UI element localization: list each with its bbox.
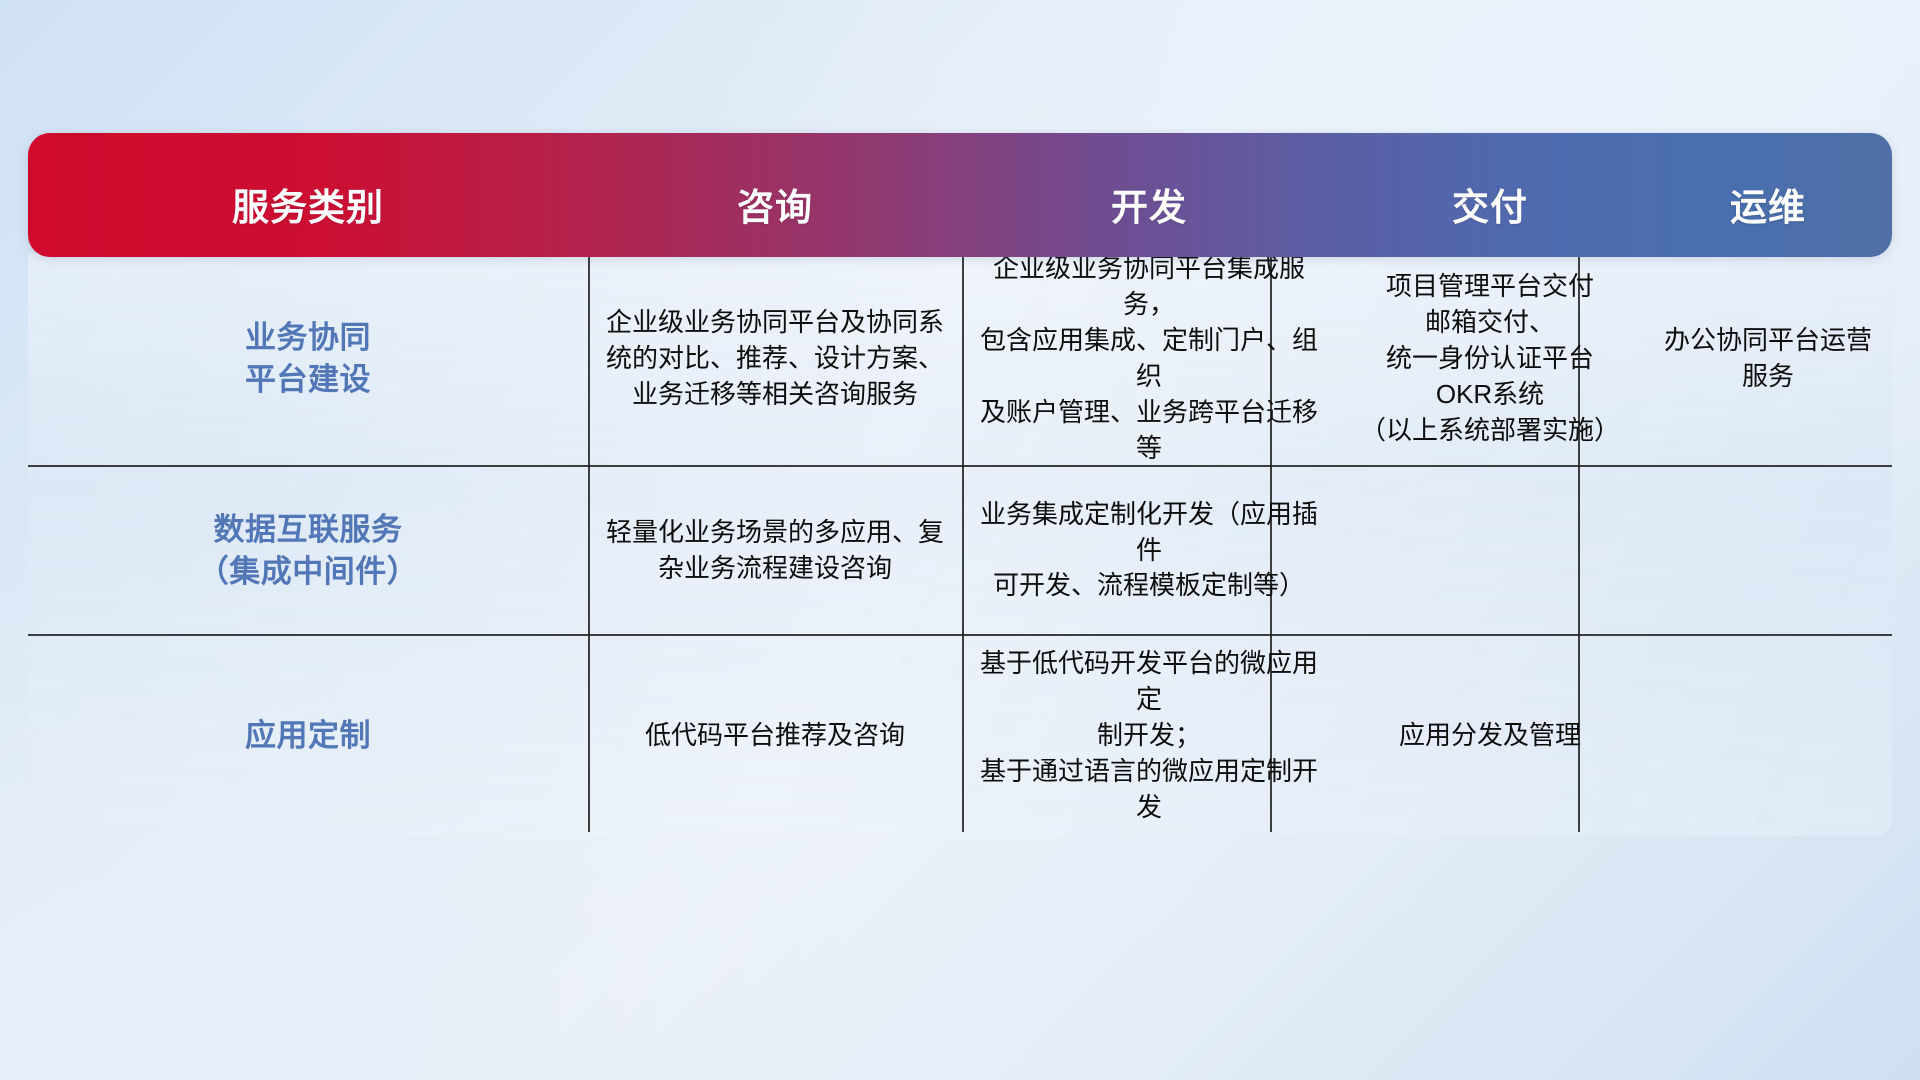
table-body: 业务协同 平台建设 企业级业务协同平台及协同系 统的对比、推荐、设计方案、 业务… bbox=[28, 253, 1892, 836]
cell-development-row1: 企业级业务协同平台集成服务， 包含应用集成、定制门户、组织 及账户管理、业务跨平… bbox=[962, 253, 1336, 465]
header-cell-operations: 运维 bbox=[1644, 133, 1892, 257]
header-label-development: 开发 bbox=[1111, 177, 1187, 231]
cell-delivery-row1: 项目管理平台交付 邮箱交付、 统一身份认证平台 OKR系统 （以上系统部署实施） bbox=[1336, 253, 1644, 465]
header-cell-delivery: 交付 bbox=[1336, 133, 1644, 257]
cell-operations-row1: 办公协同平台运营服务 bbox=[1644, 253, 1892, 465]
header-label-service-category: 服务类别 bbox=[232, 177, 384, 231]
header-cell-development: 开发 bbox=[962, 133, 1336, 257]
row-label-application-customization: 应用定制 bbox=[28, 636, 588, 836]
cell-consulting-row3: 低代码平台推荐及咨询 bbox=[588, 636, 962, 836]
row-label-data-interconnection-service: 数据互联服务 （集成中间件） bbox=[28, 467, 588, 634]
header-label-operations: 运维 bbox=[1730, 177, 1806, 231]
cell-consulting-row2: 轻量化业务场景的多应用、复 杂业务流程建设咨询 bbox=[588, 467, 962, 634]
row-label-business-collaboration-platform: 业务协同 平台建设 bbox=[28, 253, 588, 465]
cell-operations-row3 bbox=[1644, 636, 1892, 836]
cell-consulting-row1: 企业级业务协同平台及协同系 统的对比、推荐、设计方案、 业务迁移等相关咨询服务 bbox=[588, 253, 962, 465]
cell-development-row2: 业务集成定制化开发（应用插件 可开发、流程模板定制等） bbox=[962, 467, 1336, 634]
cell-delivery-row2 bbox=[1336, 467, 1644, 634]
header-label-consulting: 咨询 bbox=[737, 177, 813, 231]
service-matrix-table: 服务类别 咨询 开发 交付 运维 业务协同 平台建设 企业级业务协同平台及协同系… bbox=[28, 133, 1892, 836]
cell-delivery-row3: 应用分发及管理 bbox=[1336, 636, 1644, 836]
table-row: 应用定制 低代码平台推荐及咨询 基于低代码开发平台的微应用定 制开发； 基于通过… bbox=[28, 636, 1892, 836]
header-cell-service-category: 服务类别 bbox=[28, 133, 588, 257]
table-header-row: 服务类别 咨询 开发 交付 运维 bbox=[28, 133, 1892, 257]
table-row: 业务协同 平台建设 企业级业务协同平台及协同系 统的对比、推荐、设计方案、 业务… bbox=[28, 253, 1892, 465]
cell-development-row3: 基于低代码开发平台的微应用定 制开发； 基于通过语言的微应用定制开发 bbox=[962, 636, 1336, 836]
header-label-delivery: 交付 bbox=[1452, 177, 1528, 231]
header-cell-consulting: 咨询 bbox=[588, 133, 962, 257]
cell-operations-row2 bbox=[1644, 467, 1892, 634]
slide-canvas: 服务类别 咨询 开发 交付 运维 业务协同 平台建设 企业级业务协同平台及协同系… bbox=[0, 0, 1920, 1080]
table-row: 数据互联服务 （集成中间件） 轻量化业务场景的多应用、复 杂业务流程建设咨询 业… bbox=[28, 467, 1892, 634]
